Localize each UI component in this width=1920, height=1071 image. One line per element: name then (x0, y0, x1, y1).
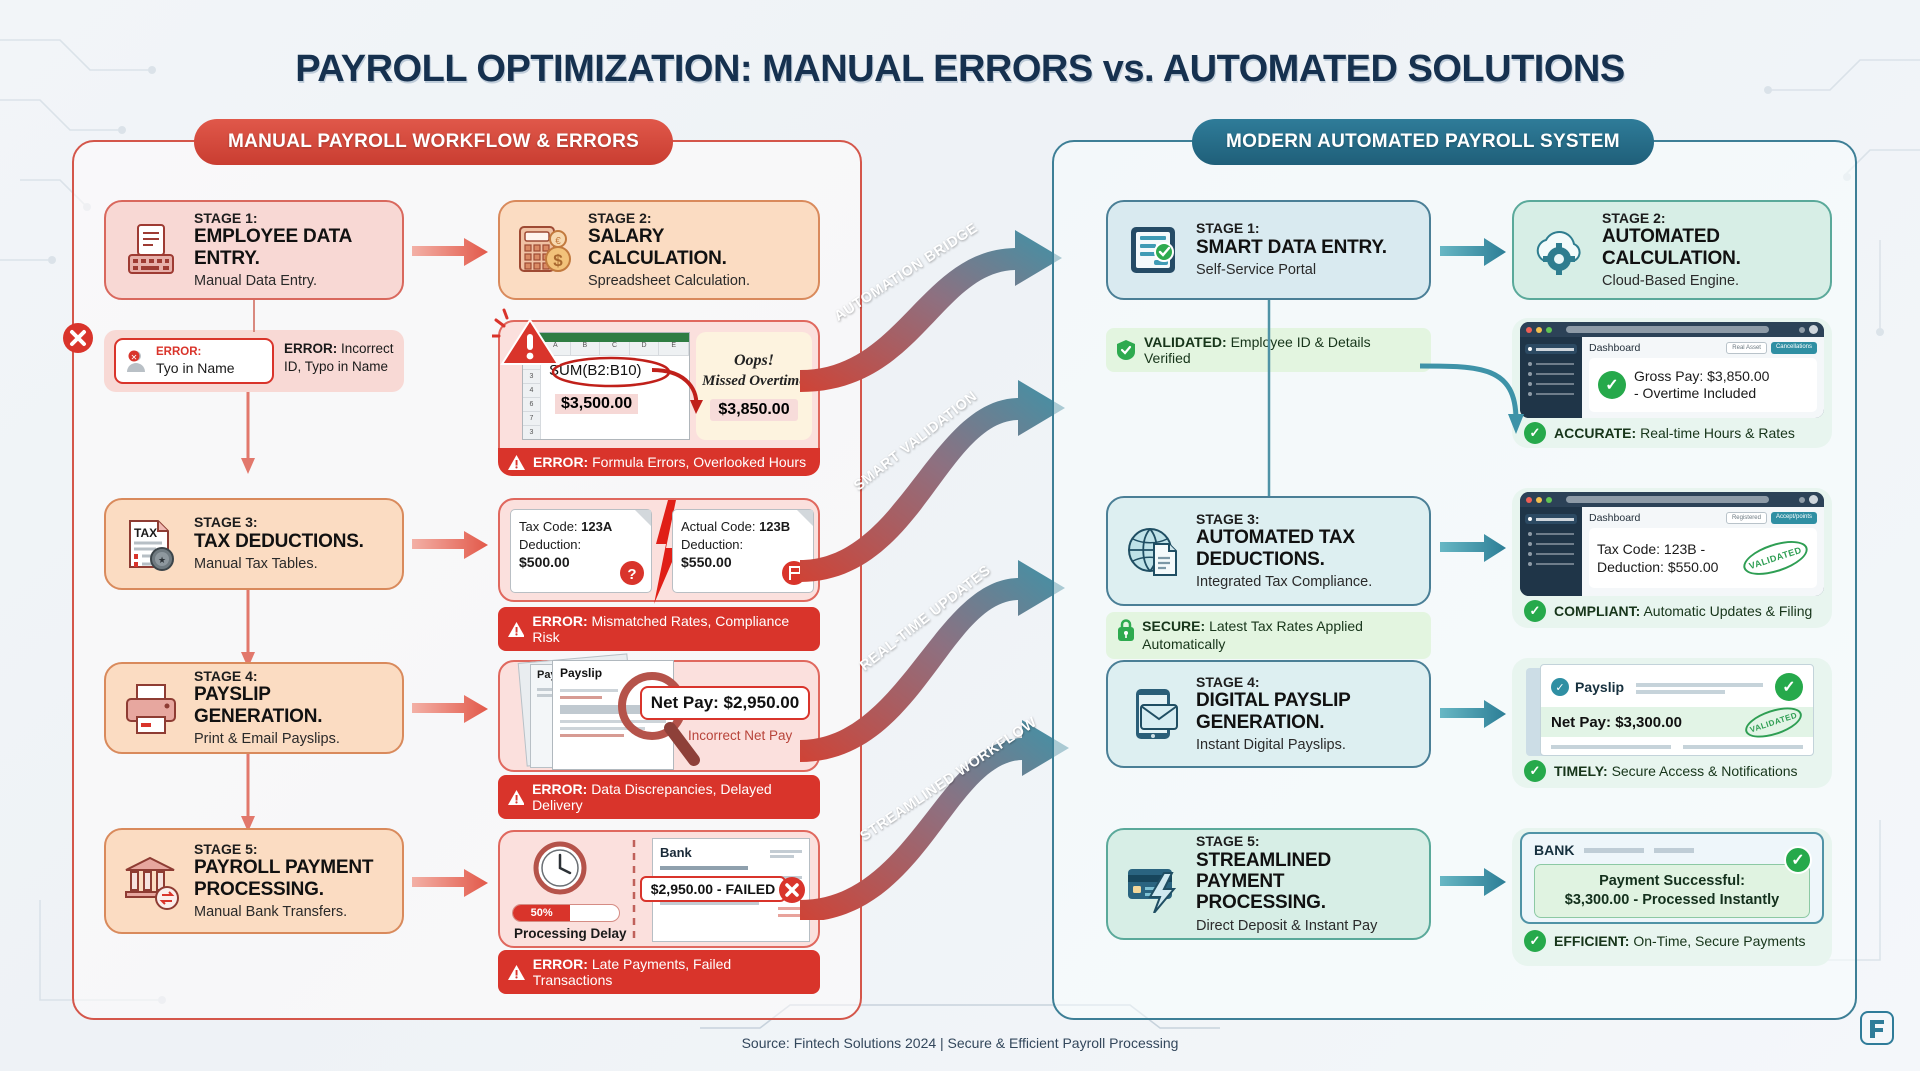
arrow-auto-1-to-2 (1440, 236, 1510, 268)
code-value: 123A (581, 519, 612, 534)
bank-line1: Payment Successful: (1599, 872, 1745, 891)
net-pay-caption: Incorrect Net Pay (688, 728, 792, 743)
error-cross-icon (58, 318, 98, 358)
gross-line1: Gross Pay: $3,850.00 (1634, 368, 1769, 386)
arrow-auto-5 (1440, 866, 1510, 898)
manual-stage5-detail: 50% Processing Delay Bank $2,950.00 - FA… (498, 830, 820, 948)
stage-name: PAYSLIP GENERATION. (194, 684, 388, 727)
svg-text:?: ? (627, 566, 636, 583)
auto-strip-compliant: ✓ COMPLIANT: Automatic Updates & Filing (1520, 598, 1824, 624)
tax-code-card-left: Tax Code: 123A Deduction: $500.00 ? (510, 509, 652, 593)
sheet-col: D (630, 342, 660, 355)
stage-desc: Cloud-Based Engine. (1602, 273, 1816, 289)
stage-name: SALARY CALCULATION. (588, 226, 804, 269)
stage-number: STAGE 2: (1602, 211, 1816, 227)
svg-text:TAX: TAX (134, 526, 157, 540)
sheet-row: 6 (523, 398, 540, 412)
ok-text: Secure Access & Notifications (1612, 763, 1798, 779)
stage-number: STAGE 2: (588, 211, 804, 227)
stage-name: TAX DEDUCTIONS. (194, 531, 364, 552)
curved-connector-to-gross (1420, 360, 1540, 470)
stage-desc: Manual Tax Tables. (194, 556, 364, 572)
stage-number: STAGE 1: (1196, 221, 1387, 237)
document-keyboard-icon (120, 219, 182, 281)
ded-amount: $550.00 (681, 554, 732, 570)
stage-number: STAGE 5: (194, 842, 388, 858)
lock-icon (1116, 618, 1134, 642)
connector-auto-1-to-3 (1262, 300, 1276, 496)
manual-stage2-error-strip: ERROR: Formula Errors, Overlooked Hours (498, 448, 820, 476)
auto-stage-3[interactable]: STAGE 3: AUTOMATED TAX DEDUCTIONS. Integ… (1106, 496, 1431, 606)
user-error-icon: ✕ (124, 348, 150, 374)
stage-desc: Instant Digital Payslips. (1196, 737, 1415, 753)
dash-btn-secondary[interactable]: Real Asset (1726, 342, 1767, 354)
arrow-stage1-to-2 (412, 235, 492, 269)
auto-strip-secure: SECURE: Latest Tax Rates Applied Automat… (1106, 612, 1431, 659)
tax-dashboard-window: Dashboard Registered Accept/points Tax C… (1520, 492, 1824, 596)
stage-desc: Spreadsheet Calculation. (588, 273, 804, 289)
auto-gross-pay-card: Dashboard Real Asset Cancellations ✓ Gro… (1512, 318, 1832, 448)
check-circle-icon: ✓ (1775, 673, 1803, 701)
stage-name: PAYROLL PAYMENT PROCESSING. (194, 857, 388, 900)
auto-bank-card: BANK Payment Successful: $3,300.00 - Pro… (1512, 828, 1832, 966)
err-bold: ERROR: (532, 781, 587, 797)
clock-icon (532, 840, 588, 896)
manual-stage-2[interactable]: € $ STAGE 2: SALARY CALCULATION. Spreads… (498, 200, 820, 300)
ok-text: On-Time, Secure Payments (1633, 933, 1805, 949)
svg-text:$: $ (553, 251, 563, 270)
stage-name: AUTOMATED CALCULATION. (1602, 226, 1816, 269)
manual-panel-badge: MANUAL PAYROLL WORKFLOW & ERRORS (194, 119, 673, 165)
auto-tax-card: Dashboard Registered Accept/points Tax C… (1512, 488, 1832, 628)
auto-strip-efficient: ✓ EFFICIENT: On-Time, Secure Payments (1520, 928, 1824, 954)
sheet-row: 3 (523, 426, 540, 440)
curved-arrow-icon (650, 364, 720, 420)
wrong-total: $3,500.00 (555, 394, 638, 414)
validated-stamp: VALIDATED (1740, 534, 1812, 581)
sheet-col: E (659, 342, 689, 355)
cloud-gear-icon (1528, 219, 1590, 281)
code-value: 123B (759, 519, 790, 534)
code-label: Actual Code: (681, 519, 755, 534)
magnifier-icon (612, 668, 704, 772)
err-bold: ERROR: (533, 454, 588, 470)
svg-text:★: ★ (158, 555, 166, 565)
stage-desc: Self-Service Portal (1196, 262, 1387, 278)
check-circle-icon: ✓ (1524, 930, 1546, 952)
stage-number: STAGE 5: (1196, 834, 1415, 850)
correct-total: $3,850.00 (710, 399, 797, 421)
manual-stage3-error-strip: ERROR: Mismatched Rates, Compliance Risk (498, 607, 820, 651)
auto-strip-timely: ✓ TIMELY: Secure Access & Notifications (1520, 758, 1824, 784)
warning-icon (508, 622, 524, 637)
page-title: PAYROLL OPTIMIZATION: MANUAL ERRORS vs. … (0, 48, 1920, 91)
warning-icon (508, 965, 525, 980)
manual-stage-3[interactable]: TAX ★ STAGE 3: TAX DEDUCTIONS. Manual Ta… (104, 498, 404, 590)
stage-number: STAGE 3: (1196, 512, 1415, 528)
stage-name: DIGITAL PAYSLIP GENERATION. (1196, 690, 1415, 733)
svg-text:€: € (555, 236, 561, 247)
tablet-check-icon (1122, 219, 1184, 281)
ded-amount: $500.00 (519, 554, 570, 570)
oops-line1: Oops! (734, 352, 774, 370)
auto-strip-accurate: ✓ ACCURATE: Real-time Hours & Rates (1520, 420, 1824, 446)
bank-title: Bank (660, 845, 692, 860)
stage-desc: Direct Deposit & Instant Pay (1196, 918, 1415, 934)
manual-stage3-detail: Tax Code: 123A Deduction: $500.00 ? Actu… (498, 498, 820, 602)
stage-desc: Manual Bank Transfers. (194, 904, 388, 920)
manual-stage-4[interactable]: STAGE 4: PAYSLIP GENERATION. Print & Ema… (104, 662, 404, 754)
manual-stage4-error-strip: ERROR: Data Discrepancies, Delayed Deliv… (498, 775, 820, 819)
calculator-coins-icon: € $ (514, 219, 576, 281)
err-bold: ERROR: (533, 956, 588, 972)
manual-stage-5[interactable]: STAGE 5: PAYROLL PAYMENT PROCESSING. Man… (104, 828, 404, 934)
check-circle-icon: ✓ (1784, 846, 1812, 874)
stage-name: EMPLOYEE DATA ENTRY. (194, 226, 388, 269)
code-label: Tax Code: (519, 519, 578, 534)
ok-bold: EFFICIENT: (1554, 933, 1629, 949)
tax-code-card-right: Actual Code: 123B Deduction: $550.00 (672, 509, 814, 593)
gross-line2: - Overtime Included (1634, 385, 1769, 403)
arrow-stage5 (412, 866, 492, 900)
auto-stage-4[interactable]: STAGE 4: DIGITAL PAYSLIP GENERATION. Ins… (1106, 660, 1431, 768)
arrow-stage4 (412, 692, 492, 726)
auto-stage-2[interactable]: STAGE 2: AUTOMATED CALCULATION. Cloud-Ba… (1512, 200, 1832, 300)
tax-line1: Tax Code: 123B - (1597, 540, 1718, 558)
warning-triangle-icon (492, 308, 566, 382)
ok-text: Real-time Hours & Rates (1640, 425, 1795, 441)
connector-line (248, 300, 260, 332)
progress-bar: 50% (512, 904, 620, 922)
globe-document-icon (1122, 520, 1184, 582)
ok-text: Automatic Updates & Filing (1643, 603, 1812, 619)
manual-stage5-error-strip: ERROR: Late Payments, Failed Transaction… (498, 950, 820, 994)
stage-desc: Manual Data Entry. (194, 273, 388, 289)
dash-btn-primary[interactable]: Cancellations (1771, 342, 1817, 354)
question-mark-icon: ? (619, 560, 645, 586)
sheet-col: C (600, 342, 630, 355)
net-pay-incorrect: Net Pay: $2,950.00 (640, 686, 810, 720)
stage-name: SMART DATA ENTRY. (1196, 237, 1387, 258)
printer-icon (120, 677, 182, 739)
payslip-check-icon: ✓ (1551, 678, 1569, 696)
dash-label: Dashboard (1589, 512, 1640, 524)
ok-bold: VALIDATED: (1144, 334, 1227, 350)
stage-number: STAGE 4: (194, 669, 388, 685)
dash-btn-primary[interactable]: Accept/points (1771, 512, 1817, 524)
progress-value: 50% (513, 905, 570, 921)
manual-stage-1[interactable]: STAGE 1: EMPLOYEE DATA ENTRY. Manual Dat… (104, 200, 404, 300)
warning-icon (508, 455, 525, 470)
warning-icon (508, 790, 524, 805)
dashboard-window: Dashboard Real Asset Cancellations ✓ Gro… (1520, 322, 1824, 418)
bank-transfer-icon (120, 850, 182, 912)
connector-stage1-to-3 (240, 392, 270, 492)
shield-check-icon (1116, 339, 1136, 361)
stage-number: STAGE 1: (194, 211, 388, 227)
auto-stage-1[interactable]: STAGE 1: SMART DATA ENTRY. Self-Service … (1106, 200, 1431, 300)
arrow-auto-4 (1440, 698, 1510, 730)
automated-panel-badge: MODERN AUTOMATED PAYROLL SYSTEM (1192, 119, 1654, 165)
stage-name: AUTOMATED TAX DEDUCTIONS. (1196, 527, 1415, 570)
sheet-row: 7 (523, 412, 540, 426)
arrow-stage3 (412, 528, 492, 562)
err-bold: ERROR: (532, 613, 587, 629)
ded-label: Deduction: (519, 537, 581, 552)
progress-label: Processing Delay (514, 926, 627, 941)
stage-number: STAGE 3: (194, 515, 364, 531)
error-chip-label: ERROR: (156, 346, 235, 359)
ok-bold: COMPLIANT: (1554, 603, 1640, 619)
ded-label: Deduction: (681, 537, 743, 552)
bank-title: BANK (1534, 842, 1574, 858)
sheet-row: 4 (523, 384, 540, 398)
dash-btn-secondary[interactable]: Registered (1726, 512, 1767, 524)
card-bolt-icon (1122, 853, 1184, 915)
sheet-col: B (571, 342, 601, 355)
stage-number: STAGE 4: (1196, 675, 1415, 691)
tax-document-icon: TAX ★ (120, 513, 182, 575)
footer-source: Source: Fintech Solutions 2024 | Secure … (0, 1035, 1920, 1051)
stage-name: STREAMLINED PAYMENT PROCESSING. (1196, 850, 1415, 914)
stage-desc: Print & Email Payslips. (194, 731, 388, 747)
dash-label: Dashboard (1589, 342, 1640, 354)
tax-line2: Deduction: $550.00 (1597, 558, 1718, 576)
svg-text:✕: ✕ (131, 353, 138, 362)
payslip-title: Payslip (1575, 679, 1624, 695)
check-circle-icon: ✓ (1524, 600, 1546, 622)
ok-bold: SECURE: (1142, 618, 1205, 634)
brand-logo (1860, 1011, 1894, 1045)
bank-line2: $3,300.00 - Processed Instantly (1565, 891, 1779, 910)
auto-stage-5[interactable]: STAGE 5: STREAMLINED PAYMENT PROCESSING.… (1106, 828, 1431, 940)
stage-desc: Integrated Tax Compliance. (1196, 574, 1415, 590)
auto-net-pay: Net Pay: $3,300.00 (1551, 714, 1682, 731)
error-chip-value: Tyo in Name (156, 360, 235, 376)
check-circle-icon: ✓ (1524, 760, 1546, 782)
auto-payslip-card: ✓ Payslip ✓ Net Pay: $3,300.00 VALIDATED… (1512, 658, 1832, 788)
err-text: Formula Errors, Overlooked Hours (592, 454, 806, 470)
manual-stage1-error-detail: ✕ ERROR: Tyo in Name ERROR: Incorrect ID… (104, 330, 404, 392)
manual-stage4-detail: Pay Payslip Net Pay: $2,950.00 Incorrect… (498, 660, 820, 772)
error-text-bold: ERROR: (284, 341, 337, 356)
payment-failed-amount: $2,950.00 - FAILED (640, 876, 786, 902)
arrow-auto-3 (1440, 532, 1510, 564)
phone-mail-icon (1122, 683, 1184, 745)
ok-bold: ACCURATE: (1554, 425, 1636, 441)
ok-bold: TIMELY: (1554, 763, 1608, 779)
